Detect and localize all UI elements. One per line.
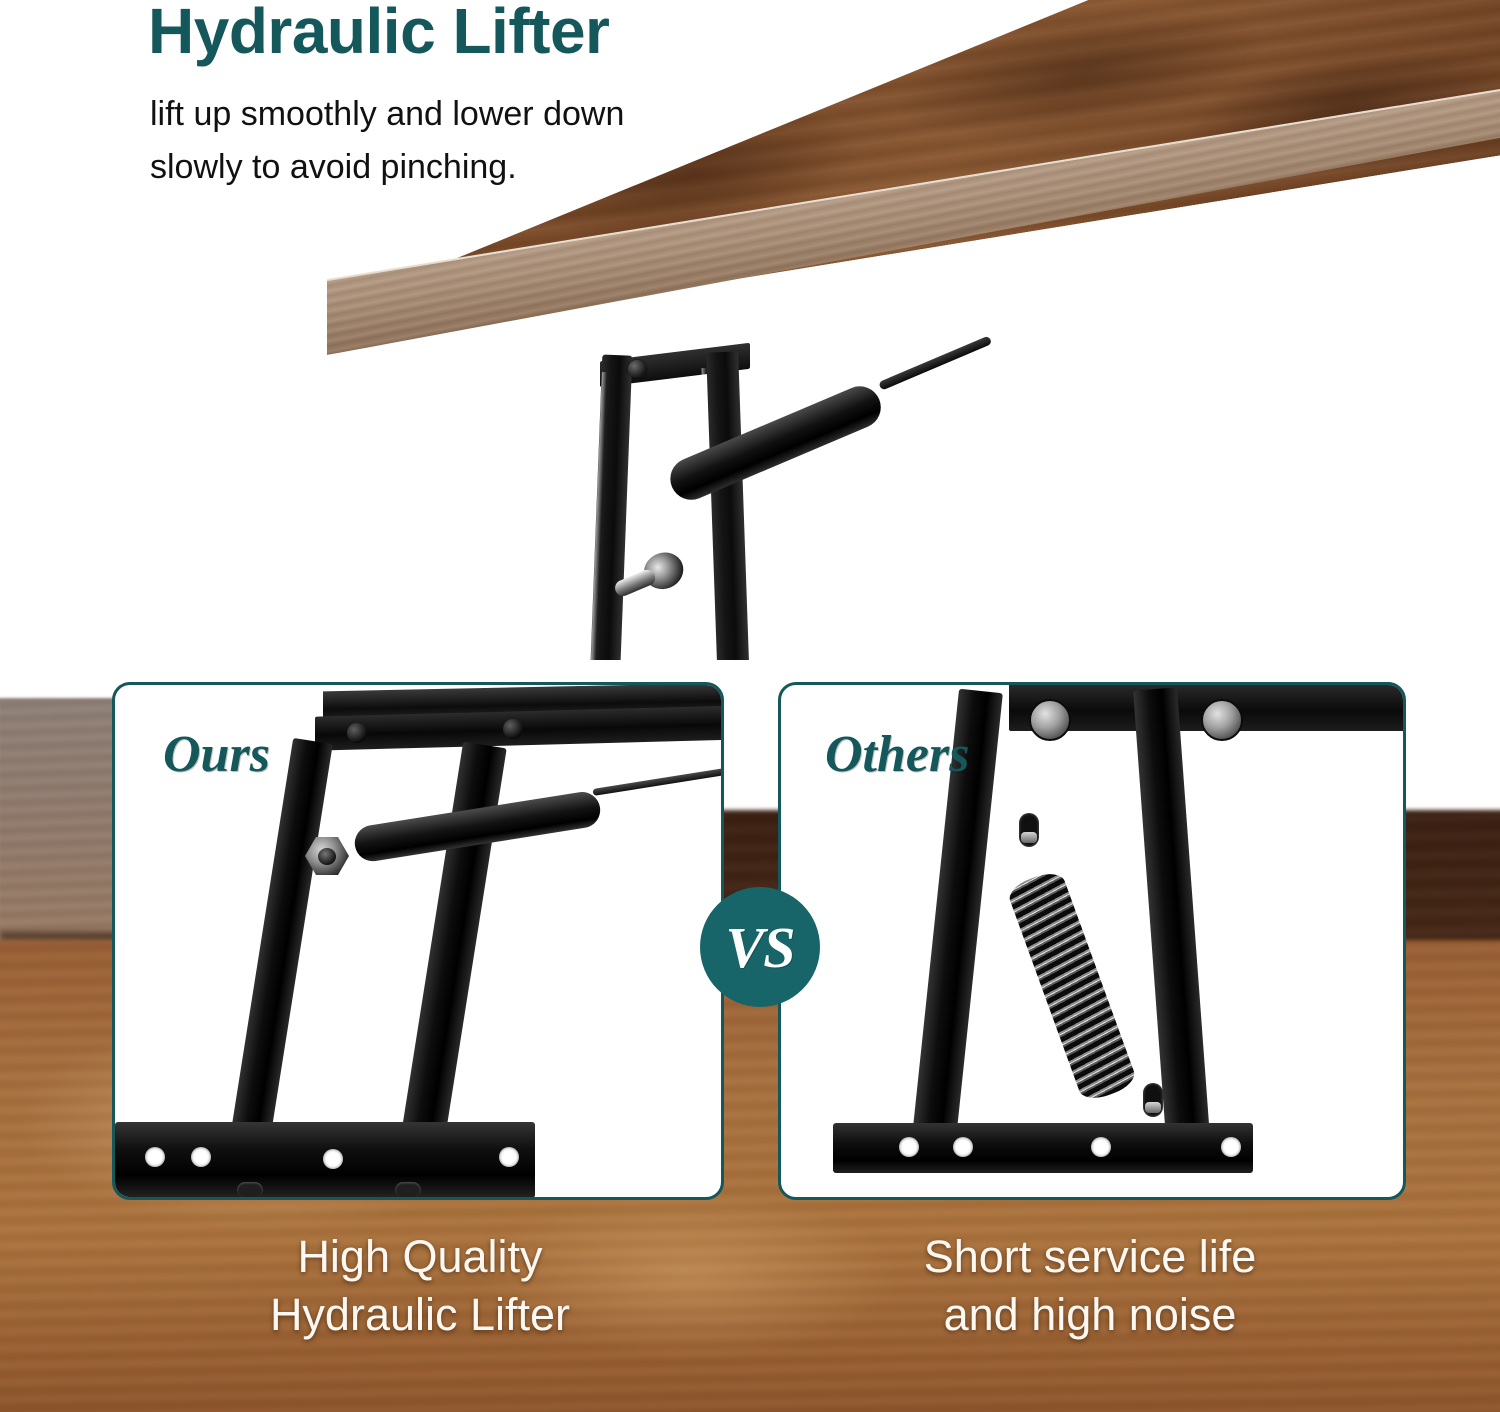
vs-badge-label: VS [726, 914, 795, 981]
gas-strut-rod [878, 335, 992, 390]
others-rivet-icon [1201, 699, 1243, 741]
ours-arm-left [223, 738, 333, 1187]
others-rivet-icon [1029, 699, 1071, 741]
ours-strut-rod [592, 764, 724, 796]
comparison-panel-others[interactable]: Others [778, 682, 1406, 1200]
others-screw-hole-icon [1091, 1137, 1111, 1157]
ours-screw-hole-icon [323, 1149, 343, 1169]
caption-others: Short service life and high noise [820, 1228, 1360, 1343]
others-mounting-base-plate [833, 1123, 1253, 1173]
ours-rivet-icon [503, 719, 523, 739]
ours-screw-hole-icon [145, 1147, 165, 1167]
ours-base-slot-icon [395, 1182, 421, 1198]
comparison-panel-ours[interactable]: Ours [112, 682, 724, 1200]
gas-strut-cylinder [664, 380, 888, 507]
frame-bolt-icon [628, 360, 646, 378]
vs-badge: VS [700, 887, 820, 1007]
product-feature-infographic: Hydraulic Lifter lift up smoothly and lo… [0, 0, 1500, 1412]
caption-ours: High Quality Hydraulic Lifter [150, 1228, 690, 1343]
ours-rivet-icon [347, 723, 367, 743]
page-subtitle: lift up smoothly and lower down slowly t… [150, 88, 624, 193]
ours-hex-nut-center-icon [318, 848, 336, 865]
panel-label-others: Others [825, 725, 969, 784]
coil-spring-icon [1005, 868, 1138, 1104]
others-screw-hole-icon [899, 1137, 919, 1157]
others-arm-slot-icon [1019, 813, 1039, 847]
ours-base-slot-icon [237, 1182, 263, 1198]
ours-screw-hole-icon [191, 1147, 211, 1167]
others-screw-hole-icon [953, 1137, 973, 1157]
panel-label-ours: Ours [163, 725, 270, 784]
others-arm-slot-icon [1143, 1083, 1163, 1117]
page-title: Hydraulic Lifter [148, 0, 609, 68]
others-screw-hole-icon [1221, 1137, 1241, 1157]
ours-screw-hole-icon [499, 1147, 519, 1167]
